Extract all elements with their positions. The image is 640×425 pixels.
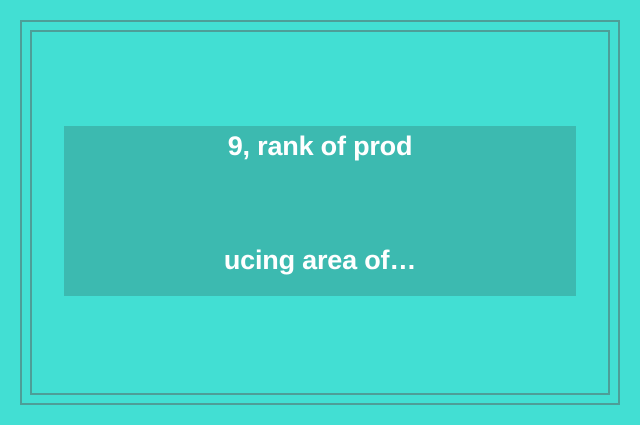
panel-text-line-2: ucing area of… <box>224 241 416 279</box>
panel-text-line-1: 9, rank of prod <box>224 127 416 165</box>
screenshot-canvas: 9, rank of prod ucing area of… <box>0 0 640 425</box>
content-panel: 9, rank of prod ucing area of… <box>64 126 576 296</box>
panel-text-block: 9, rank of prod ucing area of… <box>224 51 416 355</box>
